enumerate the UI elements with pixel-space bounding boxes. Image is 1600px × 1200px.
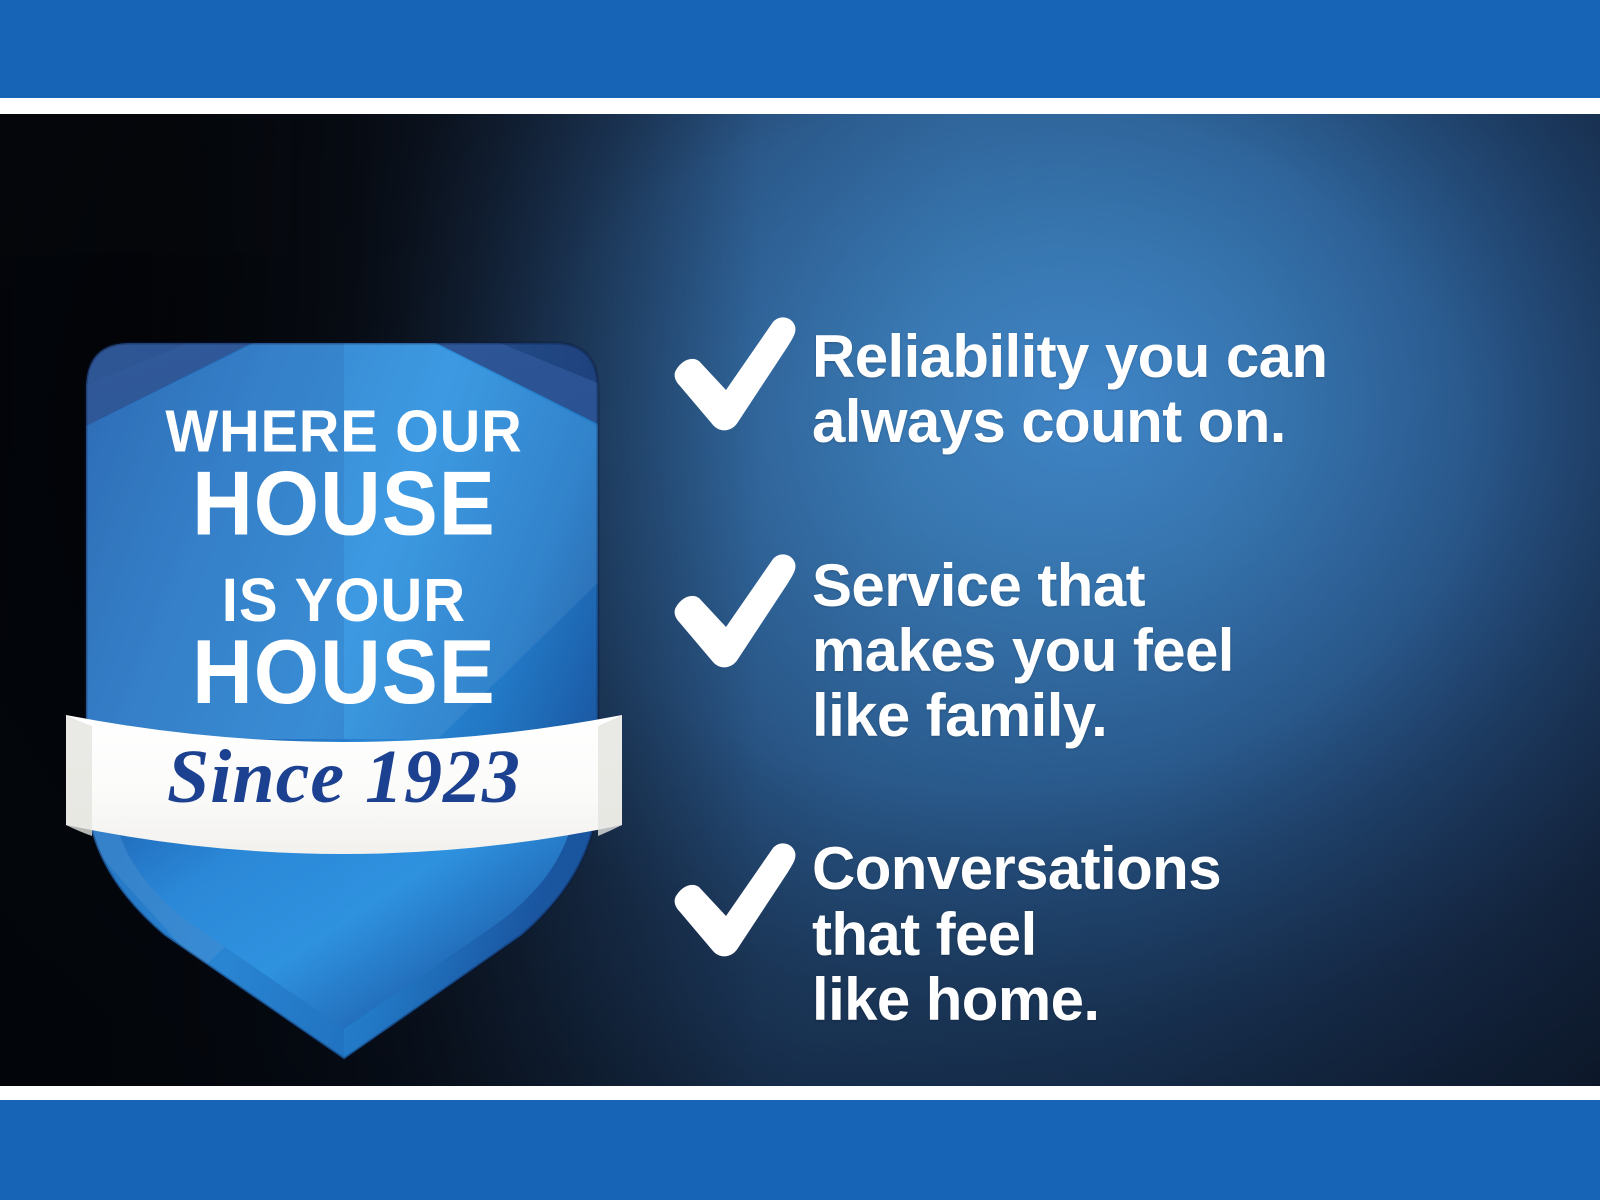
promo-graphic: WHERE OUR HOUSE IS YOUR HOUSE Since 1923 <box>0 0 1600 1200</box>
bottom-brand-bar <box>0 1100 1600 1200</box>
main-canvas: WHERE OUR HOUSE IS YOUR HOUSE Since 1923 <box>0 114 1600 1086</box>
list-item: Conversations that feel like home. <box>672 836 1552 1031</box>
list-item: Reliability you can always count on. <box>672 310 1552 454</box>
checkmark-icon <box>672 842 812 962</box>
top-brand-bar <box>0 0 1600 98</box>
top-white-divider <box>0 98 1600 114</box>
tagline-line-2: HOUSE <box>192 453 496 555</box>
checkmark-icon <box>672 316 812 436</box>
bottom-white-divider <box>0 1086 1600 1100</box>
list-item-text: Reliability you can always count on. <box>812 310 1327 454</box>
ribbon: Since 1923 <box>66 715 622 854</box>
list-item: Service that makes you feel like family. <box>672 547 1552 748</box>
list-item-text: Service that makes you feel like family. <box>812 547 1234 748</box>
tagline-line-4: HOUSE <box>192 621 496 723</box>
benefits-list: Reliability you can always count on. Ser… <box>672 310 1552 1032</box>
list-item-text: Conversations that feel like home. <box>812 836 1221 1031</box>
shield-badge: WHERE OUR HOUSE IS YOUR HOUSE Since 1923 <box>52 269 632 1069</box>
grain-texture <box>0 114 290 254</box>
checkmark-icon <box>672 553 812 673</box>
ribbon-text: Since 1923 <box>167 735 521 819</box>
